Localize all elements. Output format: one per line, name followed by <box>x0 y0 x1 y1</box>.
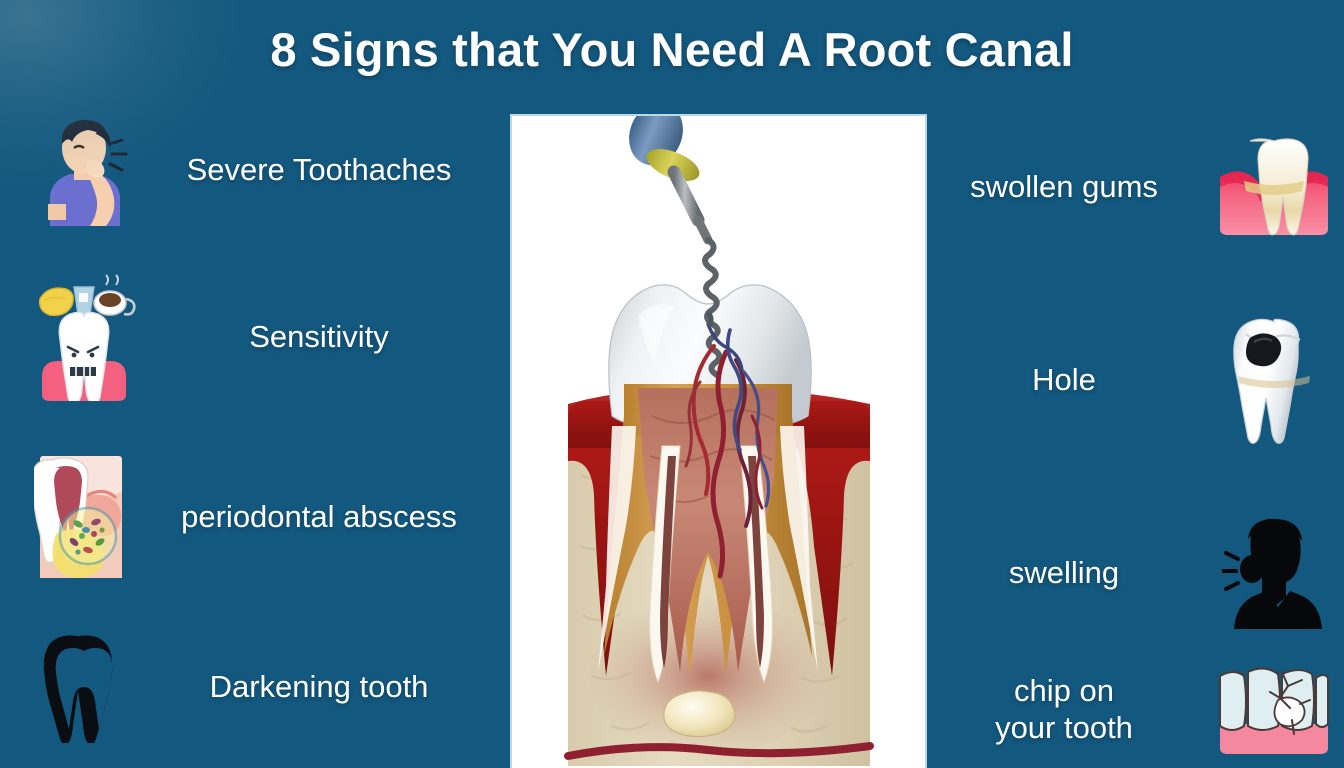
sign-label-periodontal-abscess: periodontal abscess <box>140 500 498 535</box>
sign-label-severe-toothaches: Severe Toothaches <box>140 153 498 188</box>
periodontal-abscess-icon <box>28 452 140 582</box>
root-canal-procedure-illustration <box>512 116 925 766</box>
page-title: 8 Signs that You Need A Root Canal <box>0 22 1344 77</box>
chip-label-line-1: chip on <box>916 673 1212 710</box>
sign-label-hole: Hole <box>910 363 1218 398</box>
sign-label-swollen-gums: swollen gums <box>910 170 1218 205</box>
sign-item-periodontal-abscess[interactable]: periodontal abscess <box>28 442 498 592</box>
cavity-hole-tooth-icon <box>1218 315 1330 445</box>
sensitive-tooth-icon <box>28 272 140 402</box>
sign-item-severe-toothaches[interactable]: Severe Toothaches <box>28 95 498 245</box>
sign-label-darkening-tooth: Darkening tooth <box>140 670 498 705</box>
center-illustration-panel <box>510 114 927 768</box>
sign-item-darkening-tooth[interactable]: Darkening tooth <box>28 612 498 762</box>
file-tip <box>708 312 711 326</box>
face-swelling-silhouette-icon <box>1218 508 1330 638</box>
sign-item-swollen-gums[interactable]: swollen gums <box>910 112 1330 262</box>
person-toothache-icon <box>28 105 140 235</box>
dark-tooth-silhouette-icon <box>28 622 140 752</box>
infographic-poster: 8 Signs that You Need A Root Canal <box>0 0 1344 768</box>
sign-item-swelling[interactable]: swelling <box>910 498 1330 648</box>
sign-label-sensitivity: Sensitivity <box>140 320 498 355</box>
sign-label-swelling: swelling <box>910 556 1218 591</box>
sign-label-chip-on-your-tooth: chip on your tooth <box>910 673 1218 746</box>
chipped-tooth-icon <box>1218 645 1330 768</box>
sign-item-sensitivity[interactable]: Sensitivity <box>28 262 498 412</box>
periapical-abscess <box>664 691 735 737</box>
sign-item-hole[interactable]: Hole <box>910 305 1330 455</box>
chip-label-line-2: your tooth <box>916 710 1212 747</box>
swollen-gums-icon <box>1218 122 1330 252</box>
sign-item-chip-on-your-tooth[interactable]: chip on your tooth <box>910 652 1330 768</box>
